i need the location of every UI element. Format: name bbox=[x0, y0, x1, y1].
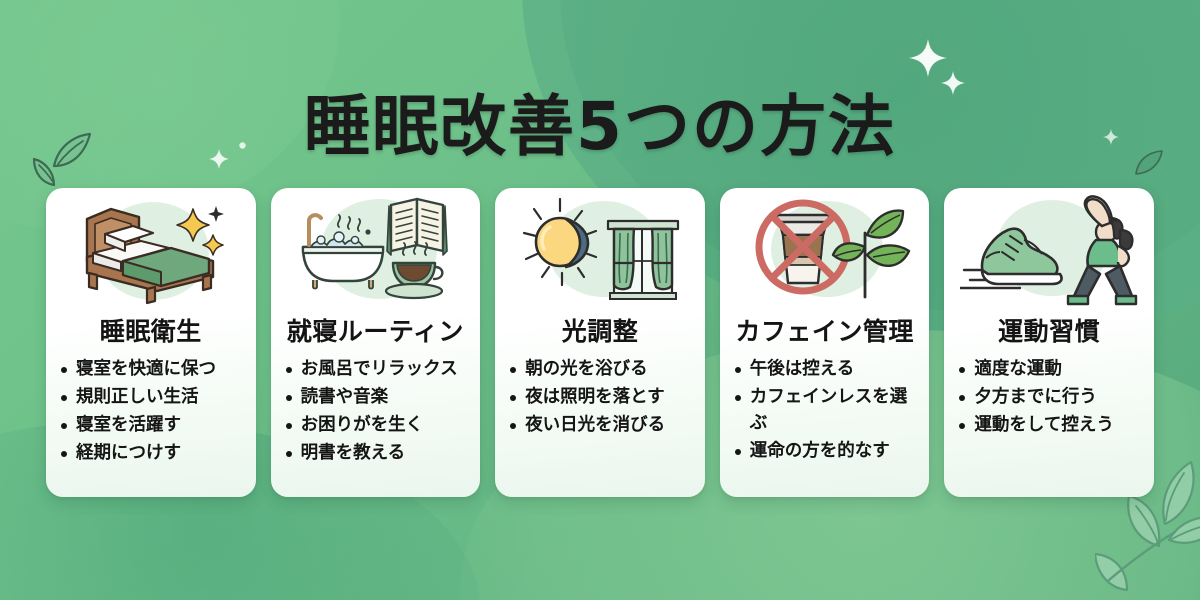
list-item: 寝室を活躍す bbox=[58, 413, 248, 439]
card-bullet-list: 適度な運動 夕方までに行う 運動をして控えう bbox=[944, 357, 1154, 441]
list-item: お困りがを生く bbox=[283, 413, 473, 439]
bed-icon bbox=[46, 188, 256, 310]
list-item: 午後は控える bbox=[732, 357, 922, 383]
card-exercise-habit[interactable]: 運動習慣 適度な運動 夕方までに行う 運動をして控えう bbox=[944, 188, 1154, 497]
card-caffeine-management[interactable]: カフェイン管理 午後は控える カフェインレスを選ぶ 運命の方を的なす bbox=[720, 188, 930, 497]
list-item: 適度な運動 bbox=[956, 357, 1146, 383]
card-title: カフェイン管理 bbox=[735, 312, 914, 348]
list-item: 朝の光を浴びる bbox=[507, 357, 697, 383]
infographic-poster: 睡眠改善5つの方法 bbox=[0, 0, 1200, 600]
list-item: 規則正しい生活 bbox=[58, 385, 248, 411]
list-item: お風呂でリラックス bbox=[283, 357, 473, 383]
card-bullet-list: お風呂でリラックス 読書や音楽 お困りがを生く 明書を教える bbox=[271, 357, 481, 469]
list-item: 明書を教える bbox=[283, 441, 473, 467]
card-title: 光調整 bbox=[562, 312, 639, 348]
bath-book-tea-icon bbox=[271, 188, 481, 310]
card-bullet-list: 午後は控える カフェインレスを選ぶ 運命の方を的なす bbox=[720, 357, 930, 467]
page-title: 睡眠改善5つの方法 bbox=[304, 92, 896, 161]
list-item: 運命の方を的なす bbox=[732, 439, 922, 465]
card-title: 就寝ルーティン bbox=[287, 312, 464, 348]
list-item: 寝室を快適に保つ bbox=[58, 357, 248, 383]
card-light-control[interactable]: 光調整 朝の光を浴びる 夜は照明を落とす 夜い日光を消びる bbox=[495, 188, 705, 497]
card-bullet-list: 朝の光を浴びる 夜は照明を落とす 夜い日光を消びる bbox=[495, 357, 705, 441]
list-item: カフェインレスを選ぶ bbox=[732, 385, 922, 437]
list-item: 夜は照明を落とす bbox=[507, 385, 697, 411]
poster-title-wrap: 睡眠改善5つの方法 bbox=[0, 48, 1200, 206]
card-title: 睡眠衛生 bbox=[100, 312, 202, 348]
list-item: 読書や音楽 bbox=[283, 385, 473, 411]
no-coffee-tea-leaf-icon bbox=[720, 188, 930, 310]
card-sleep-hygiene[interactable]: 睡眠衛生 寝室を快適に保つ 規則正しい生活 寝室を活躍す 経期につけす bbox=[46, 188, 256, 497]
card-title: 運動習慣 bbox=[998, 312, 1100, 348]
list-item: 夕方までに行う bbox=[956, 385, 1146, 411]
card-bedtime-routine[interactable]: 就寝ルーティン お風呂でリラックス 読書や音楽 お困りがを生く 明書を教える bbox=[271, 188, 481, 497]
list-item: 夜い日光を消びる bbox=[507, 413, 697, 439]
sun-moon-curtain-icon bbox=[495, 188, 705, 310]
list-item: 運動をして控えう bbox=[956, 413, 1146, 439]
sneaker-stretch-icon bbox=[944, 188, 1154, 310]
card-bullet-list: 寝室を快適に保つ 規則正しい生活 寝室を活躍す 経期につけす bbox=[46, 357, 256, 469]
card-row: 睡眠衛生 寝室を快適に保つ 規則正しい生活 寝室を活躍す 経期につけす bbox=[46, 188, 1154, 497]
list-item: 経期につけす bbox=[58, 441, 248, 467]
